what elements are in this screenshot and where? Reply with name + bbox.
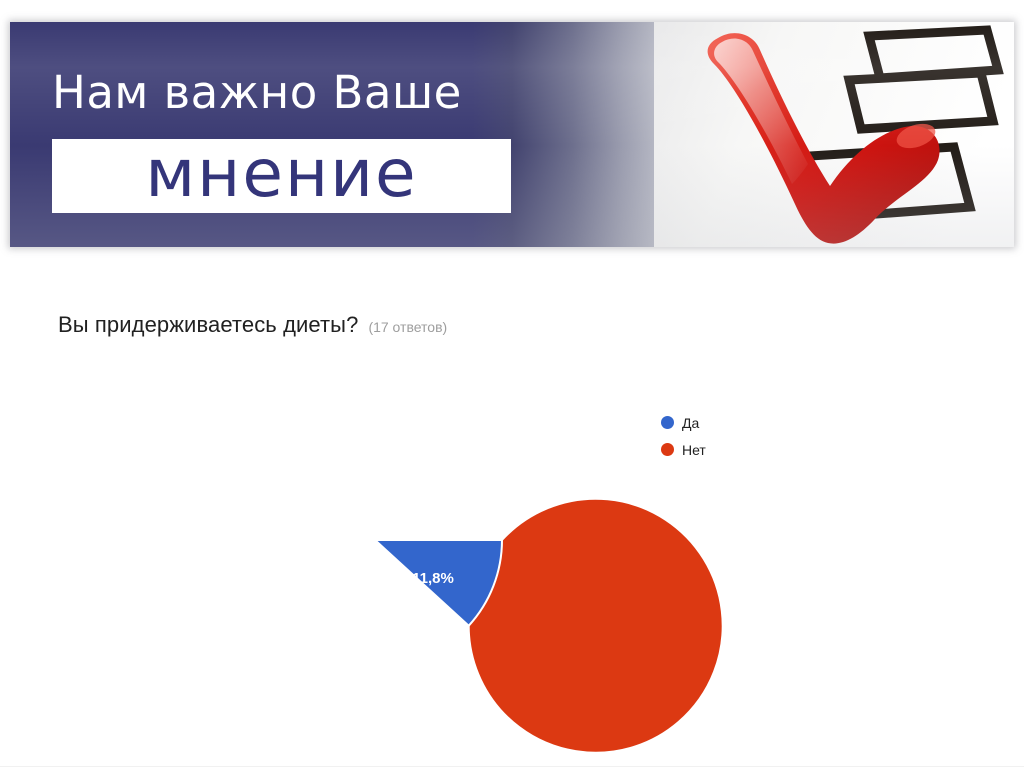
pie-slice-net [375,499,723,753]
legend-item-da[interactable]: Да [661,409,706,436]
checkmark-photo [654,22,1014,247]
banner-headline-plate: мнение [52,139,511,213]
pie-label-da: 11,8% [412,570,454,587]
legend-dot-icon-net [661,443,674,456]
pie-label-net: 88,2% [304,514,347,531]
chart-legend: Да Нет [661,409,706,463]
pie-chart: 88,2% 11,8% [240,405,510,675]
question-title: Вы придерживаетесь диеты? [58,312,358,338]
slide-canvas: Нам важно Ваше мнение Вы придерживаетесь… [0,0,1024,767]
pie-chart-container: 88,2% 11,8% Да Нет [0,380,1024,690]
legend-item-net[interactable]: Нет [661,436,706,463]
survey-banner: Нам важно Ваше мнение [10,22,1014,247]
legend-label-da: Да [682,416,699,430]
responses-count: (17 ответов) [368,319,447,335]
banner-headline-top: Нам важно Ваше [52,70,462,116]
legend-dot-icon-da [661,416,674,429]
banner-headline-bottom: мнение [145,141,417,207]
legend-label-net: Нет [682,443,706,457]
question-header: Вы придерживаетесь диеты? (17 ответов) [58,312,447,338]
